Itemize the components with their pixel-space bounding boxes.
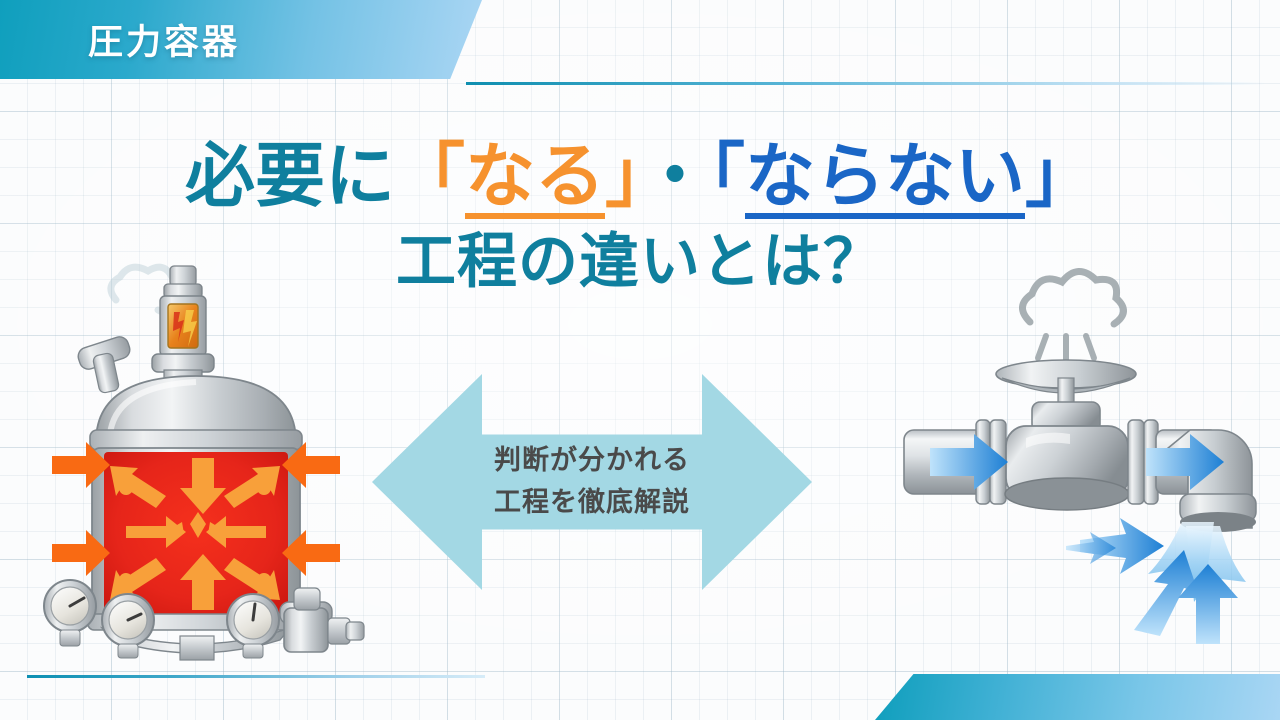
discharge-arrows — [1066, 518, 1246, 644]
headline-prefix: 必要に — [185, 137, 395, 215]
bottom-accent-rule — [27, 675, 485, 678]
pressure-vessel-illustration — [40, 262, 385, 652]
pressure-gauge-1 — [44, 580, 96, 646]
top-accent-rule — [466, 82, 1266, 85]
flange-right-a — [1128, 420, 1144, 504]
steam-puff — [1022, 271, 1123, 360]
side-nozzle — [76, 335, 132, 394]
vessel-upper-flange — [90, 430, 302, 450]
bracket-close-naru: 」 — [605, 137, 640, 215]
headline-keyword-naru: なる — [465, 141, 605, 219]
valve-body-base — [1005, 478, 1129, 510]
bracket-close-naranai: 」 — [1025, 137, 1095, 215]
headline-keyword-naranai: ならない — [745, 141, 1025, 219]
bracket-open-naranai: 「 — [710, 137, 745, 215]
valve-piping-illustration — [890, 278, 1272, 650]
double-arrow-caption-line-2: 工程を徹底解説 — [494, 482, 690, 524]
vessel-drain-pipe — [180, 636, 214, 660]
sight-glass-assembly — [152, 266, 214, 392]
vessel-pressurised-interior — [104, 452, 288, 618]
headline-line-1: 必要に「なる」・「ならない」 — [0, 140, 1280, 219]
double-arrow-caption-line-1: 判断が分かれる — [494, 440, 690, 482]
bracket-open-naru: 「 — [395, 137, 465, 215]
double-arrow-caption: 判断が分かれる 工程を徹底解説 — [372, 374, 812, 590]
bottom-corner-banner — [875, 674, 1280, 720]
category-banner: 圧力容器 — [0, 0, 482, 79]
comparison-double-arrow: 判断が分かれる 工程を徹底解説 — [372, 374, 812, 590]
category-banner-label: 圧力容器 — [88, 14, 240, 65]
headline-separator: ・ — [640, 137, 710, 215]
